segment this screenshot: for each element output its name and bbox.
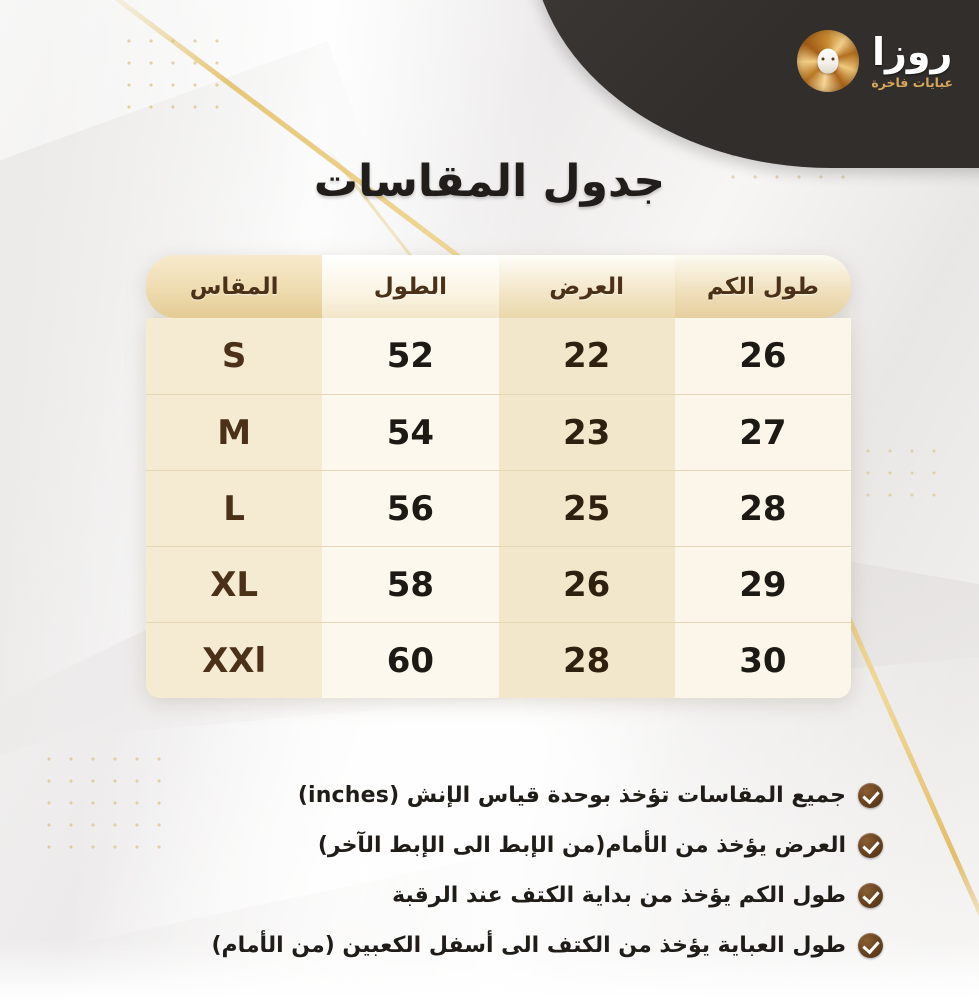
page-title: جدول المقاسات xyxy=(0,156,979,207)
cell-size: XL xyxy=(146,547,322,622)
note-text: جميع المقاسات تؤخذ بوحدة قياس الإنش (inc… xyxy=(298,783,846,808)
brand-name: روزا xyxy=(871,33,953,71)
notes-list: جميع المقاسات تؤخذ بوحدة قياس الإنش (inc… xyxy=(0,770,979,970)
note-text: طول العباية يؤخذ من الكتف الى أسفل الكعب… xyxy=(212,933,847,958)
table-row: 26 22 52 S xyxy=(146,318,851,394)
cell-size: M xyxy=(146,395,322,470)
size-chart-page: روزا عبايات فاخرة جدول المقاسات طول الكم… xyxy=(0,0,979,1000)
cell-width: 28 xyxy=(499,623,675,698)
cell-size: S xyxy=(146,318,322,394)
cell-length: 58 xyxy=(322,547,498,622)
cell-width: 22 xyxy=(499,318,675,394)
table-header-width: العرض xyxy=(499,255,675,318)
table-header-length: الطول xyxy=(322,255,498,318)
check-badge-icon xyxy=(858,783,883,808)
cell-length: 54 xyxy=(322,395,498,470)
table-header-sleeve-length: طول الكم xyxy=(675,255,851,318)
table-header-size: المقاس xyxy=(146,255,322,318)
cell-sleeve-length: 27 xyxy=(675,395,851,470)
check-badge-icon xyxy=(858,883,883,908)
cell-sleeve-length: 30 xyxy=(675,623,851,698)
cell-width: 23 xyxy=(499,395,675,470)
table-row: 27 23 54 M xyxy=(146,394,851,470)
note-text: العرض يؤخذ من الأمام(من الإبط الى الإبط … xyxy=(318,833,846,858)
dot-grid-pattern-icon xyxy=(118,30,230,120)
check-badge-icon xyxy=(858,833,883,858)
cell-length: 52 xyxy=(322,318,498,394)
face-silhouette-icon xyxy=(818,49,839,74)
rose-swirl-logo-icon xyxy=(797,30,859,92)
brand-text: روزا عبايات فاخرة xyxy=(871,33,953,90)
table-body: 26 22 52 S 27 23 54 M 28 25 56 L 29 26 5… xyxy=(146,318,851,698)
table-row: 28 25 56 L xyxy=(146,470,851,546)
cell-size: XXl xyxy=(146,623,322,698)
cell-sleeve-length: 28 xyxy=(675,471,851,546)
note-item: جميع المقاسات تؤخذ بوحدة قياس الإنش (inc… xyxy=(40,770,883,820)
note-item: العرض يؤخذ من الأمام(من الإبط الى الإبط … xyxy=(40,820,883,870)
cell-size: L xyxy=(146,471,322,546)
cell-sleeve-length: 26 xyxy=(675,318,851,394)
cell-width: 26 xyxy=(499,547,675,622)
cell-length: 56 xyxy=(322,471,498,546)
table-header-row: طول الكم العرض الطول المقاس xyxy=(146,255,851,318)
size-table: طول الكم العرض الطول المقاس 26 22 52 S 2… xyxy=(146,255,851,698)
cell-width: 25 xyxy=(499,471,675,546)
check-badge-icon xyxy=(858,933,883,958)
brand-tagline: عبايات فاخرة xyxy=(871,75,953,90)
cell-length: 60 xyxy=(322,623,498,698)
note-item: طول الكم يؤخذ من بداية الكتف عند الرقبة xyxy=(40,870,883,920)
cell-sleeve-length: 29 xyxy=(675,547,851,622)
table-row: 29 26 58 XL xyxy=(146,546,851,622)
table-row: 30 28 60 XXl xyxy=(146,622,851,698)
dot-grid-pattern-icon xyxy=(857,440,953,512)
note-text: طول الكم يؤخذ من بداية الكتف عند الرقبة xyxy=(392,883,846,908)
brand-logo: روزا عبايات فاخرة xyxy=(797,30,953,92)
note-item: طول العباية يؤخذ من الكتف الى أسفل الكعب… xyxy=(40,920,883,970)
